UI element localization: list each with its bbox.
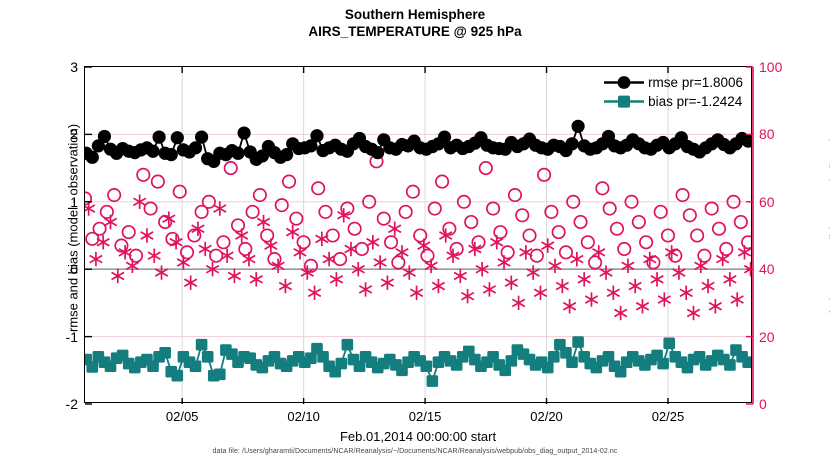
legend-label-bias: bias pr=-1.2424 [647, 92, 742, 111]
chart-page: Southern Hemisphere AIRS_TEMPERATURE @ 9… [0, 0, 830, 470]
axis-ticks [85, 67, 751, 402]
y-tick-right: 20 [759, 329, 775, 345]
rmse-legend-marker [601, 73, 647, 92]
plot-area: 3210-1-2 100806040200 02/0502/1002/1502/… [84, 66, 752, 403]
bias-legend-marker [601, 92, 647, 111]
title-line-1: Southern Hemisphere [0, 6, 830, 23]
y-tick-right: 80 [759, 126, 775, 142]
y-tick-right: 40 [759, 261, 775, 277]
title-line-2: AIRS_TEMPERATURE @ 925 hPa [0, 23, 830, 40]
y-tick-right: 100 [759, 59, 782, 75]
y-tick-right: 60 [759, 194, 775, 210]
legend-label-rmse: rmse pr=1.8006 [647, 73, 743, 92]
left-axis-label: rmse and bias (model - observation) [66, 124, 81, 332]
data-file-footer: data file: /Users/gharamti/Documents/NCA… [0, 448, 830, 455]
x-tick: 02/25 [652, 409, 685, 424]
x-tick: 02/20 [530, 409, 563, 424]
legend: rmse pr=1.8006 bias pr=-1.2424 [601, 73, 743, 111]
x-axis-label: Feb.01,2014 00:00:00 start [85, 429, 751, 444]
y-tick-right: 0 [759, 396, 767, 412]
x-tick: 02/10 [287, 409, 320, 424]
chart-title: Southern Hemisphere AIRS_TEMPERATURE @ 9… [0, 6, 830, 40]
legend-item-bias[interactable]: bias pr=-1.2424 [601, 92, 743, 111]
y-tick-left: 3 [70, 59, 78, 75]
y-tick-left: -2 [66, 396, 78, 412]
legend-item-rmse[interactable]: rmse pr=1.8006 [601, 73, 743, 92]
x-tick: 02/05 [166, 409, 199, 424]
x-tick: 02/15 [409, 409, 442, 424]
